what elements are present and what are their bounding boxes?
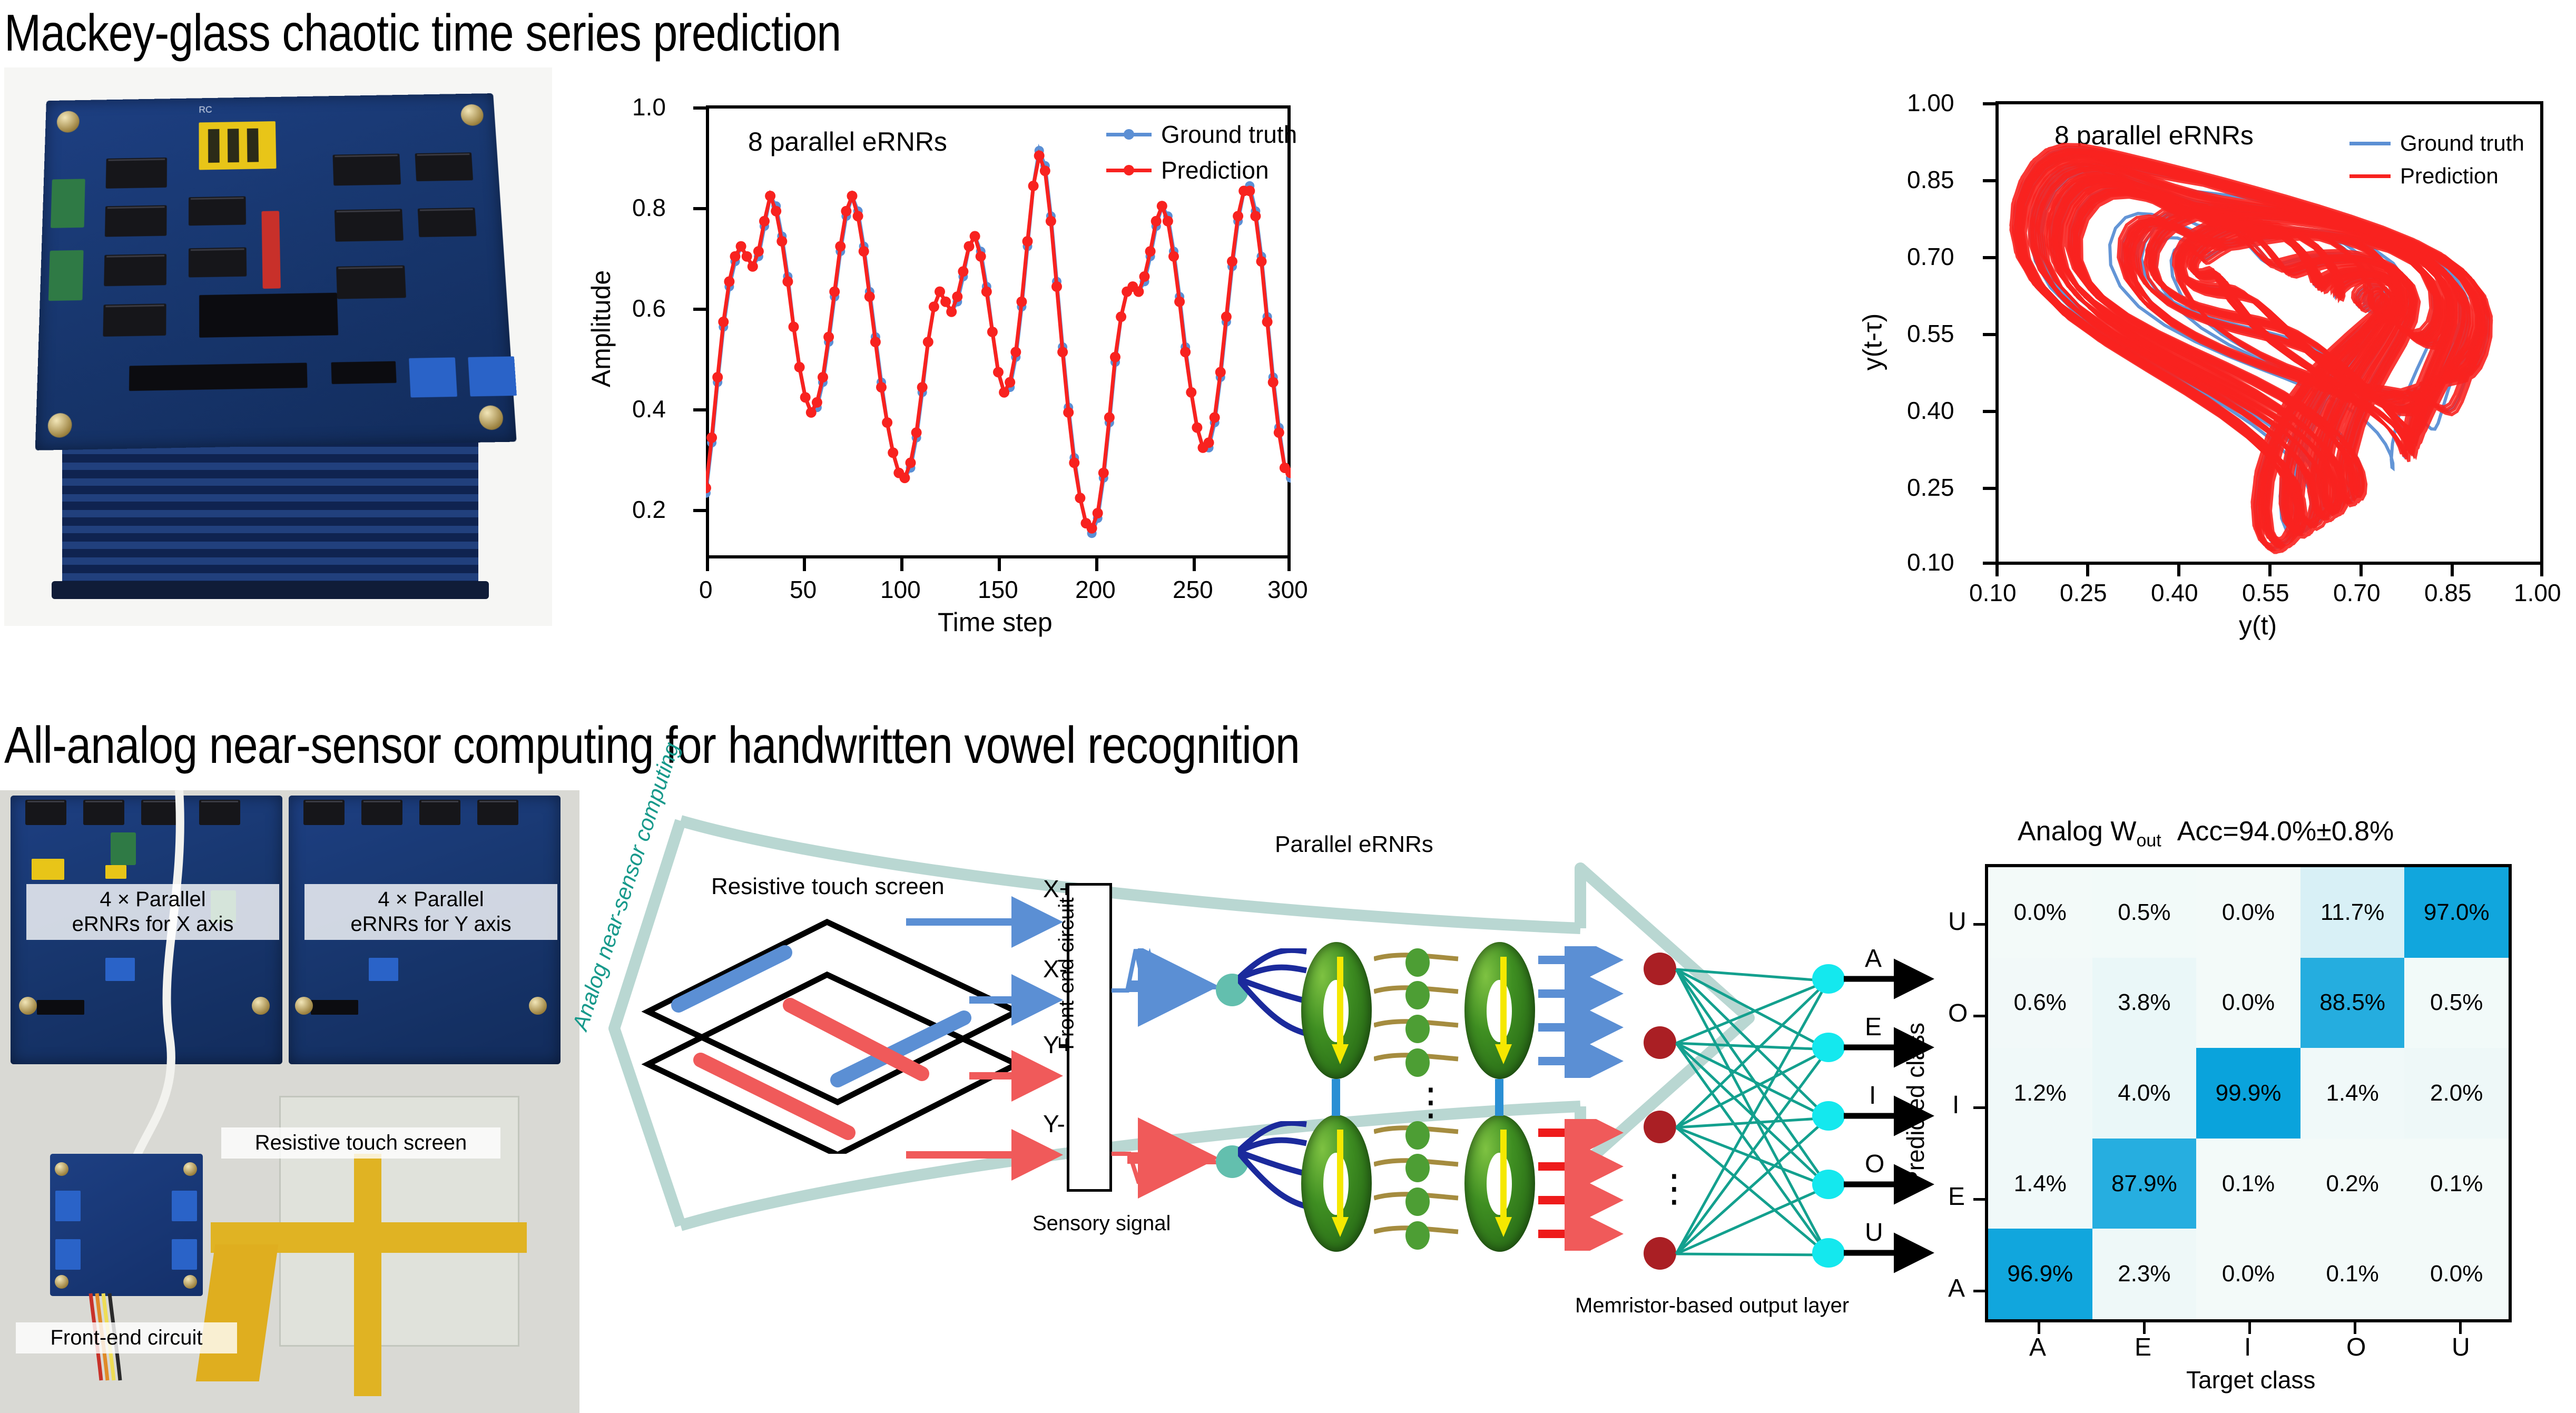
cm-cell: 0.5% (2404, 958, 2509, 1048)
cm-row-label-a: A (1948, 1274, 1965, 1303)
x-tick-label: 300 (1267, 575, 1308, 604)
y-tick (693, 207, 706, 210)
output-layer-label: Memristor-based output layer (1575, 1294, 1849, 1318)
ic-chip (418, 208, 477, 237)
ernr-ring-arrow (1330, 1130, 1351, 1240)
photo-label-touch-screen: Resistive touch screen (221, 1127, 500, 1159)
pin-header (199, 293, 338, 338)
cm-col-label-e: E (2135, 1333, 2151, 1362)
x-tick (706, 558, 709, 571)
sensory-signal-label: Sensory signal (1033, 1212, 1171, 1235)
y-tick-label: 1.00 (1907, 89, 1954, 117)
cm-cell: 0.0% (2196, 1229, 2300, 1319)
cm-cell: 0.0% (2404, 1229, 2509, 1319)
cm-cell: 0.5% (2092, 867, 2197, 958)
cm-col-tick (2248, 1322, 2251, 1334)
front-end-circuit-label: Front-end circuit (1055, 898, 1079, 1050)
cm-col-tick (2459, 1322, 2462, 1334)
cm-cell: 0.2% (2300, 1139, 2405, 1229)
reservoir-node (1405, 1188, 1430, 1216)
photo-stacked-ernr-boards: RC (4, 67, 552, 626)
cm-cell: 0.0% (1988, 867, 2092, 958)
cm-cell: 11.7% (2300, 867, 2405, 958)
ic-chip (415, 152, 474, 181)
cm-row-tick (1973, 1015, 1985, 1017)
cm-row-label-u: U (1948, 907, 1967, 936)
timeseries-series-svg (706, 105, 1291, 558)
output-label-i: I (1869, 1081, 1876, 1110)
output-node-e (1812, 1033, 1845, 1062)
title-accuracy: Acc=94.0%±0.8% (2177, 816, 2394, 847)
cm-row-label-i: I (1952, 1091, 1959, 1120)
cm-col-label-a: A (2029, 1333, 2046, 1362)
board-silkscreen-text: RC (199, 105, 212, 115)
output-node-i (1812, 1101, 1845, 1131)
x-tick-label: 0.25 (2060, 578, 2107, 607)
x-tick-label: 0.10 (1969, 578, 2017, 607)
x-tick-label: 0.70 (2333, 578, 2381, 607)
cm-cell: 88.5% (2300, 958, 2405, 1048)
y-tick (1983, 333, 1995, 336)
cm-cell: 1.2% (1988, 1048, 2092, 1139)
page-title-top: Mackey-glass chaotic time series predict… (4, 3, 841, 63)
ic-chip (106, 158, 167, 189)
y-tick (1983, 410, 1995, 413)
cm-row-label-o: O (1948, 999, 1968, 1028)
ernr-ring-arrow (1493, 1130, 1514, 1240)
output-label-e: E (1865, 1013, 1882, 1042)
x-tick (998, 558, 1001, 571)
y-axis-label: y(t-τ) (1857, 313, 1887, 371)
y-tick-label: 0.70 (1907, 242, 1954, 271)
cm-col-label-u: U (2452, 1333, 2470, 1362)
cm-cell: 0.1% (2404, 1139, 2509, 1229)
x-tick (803, 558, 806, 571)
x-tick (2086, 565, 2089, 576)
x-tick-label: 0 (699, 575, 713, 604)
ernr-output-arrows-bottom (1538, 1119, 1644, 1251)
ernr-ring-arrow (1330, 957, 1351, 1067)
y-tick (693, 106, 706, 110)
jumper-slot-2 (228, 129, 239, 162)
photo-label-y-axis: 4 × Parallel eRNRs for Y axis (304, 884, 557, 940)
cm-cell: 0.6% (1988, 958, 2092, 1048)
ring-stack-connector (1332, 1079, 1340, 1116)
confusion-matrix-title: Analog WoutAcc=94.0%±0.8% (2018, 816, 2394, 851)
cm-row-label-e: E (1948, 1182, 1965, 1211)
y-axis-label: Amplitude (586, 270, 616, 387)
cm-cell: 4.0% (2092, 1048, 2197, 1139)
y-tick-label: 0.25 (1907, 473, 1954, 502)
x-tick-label: 50 (790, 575, 817, 604)
reservoir-node (1405, 1121, 1430, 1150)
screw-top-right (460, 104, 484, 126)
cm-row-tick (1973, 1198, 1985, 1201)
ring-stack-connector (1495, 1079, 1503, 1116)
cm-col-label-i: I (2244, 1333, 2251, 1362)
confusion-matrix-chart: Analog WoutAcc=94.0%±0.8% 0.0%0.5%0.0%11… (1886, 790, 2571, 1413)
cm-cell: 1.4% (1988, 1139, 2092, 1229)
y-tick (1983, 562, 1995, 565)
cm-x-axis-label: Target class (2186, 1366, 2315, 1394)
dip-switch (261, 211, 280, 289)
cm-cell: 1.4% (2300, 1048, 2405, 1139)
tape-strip-vertical (354, 1154, 381, 1396)
near-sensor-computing-diagram: Analog near-sensor computing Resistive t… (590, 790, 1865, 1413)
blue-trimpot (468, 356, 517, 396)
x-tick (1193, 558, 1196, 571)
ernr-stack-ellipsis: ⋮ (1412, 1095, 1450, 1110)
y-tick-label: 0.85 (1907, 165, 1954, 194)
y-tick-label: 0.55 (1907, 319, 1954, 348)
cm-col-tick (2038, 1322, 2040, 1334)
pin-header (331, 361, 396, 385)
cm-col-tick (2354, 1322, 2356, 1334)
green-terminal (51, 179, 85, 228)
y-tick-label: 0.2 (632, 495, 666, 524)
confusion-matrix-grid: 0.0%0.5%0.0%11.7%97.0%0.6%3.8%0.0%88.5%0… (1985, 864, 2512, 1322)
cm-cell: 97.0% (2404, 867, 2509, 958)
x-tick-label: 0.55 (2242, 578, 2289, 607)
y-tick (1983, 256, 1995, 259)
x-tick-label: 1.00 (2514, 578, 2561, 607)
x-tick (1995, 565, 1999, 576)
y-tick (1983, 487, 1995, 490)
cm-row-tick (1973, 1290, 1985, 1292)
cm-col-label-o: O (2346, 1333, 2366, 1362)
reservoir-node (1405, 1015, 1430, 1043)
ic-chip (336, 266, 406, 299)
output-label-u: U (1865, 1218, 1883, 1247)
reservoir-node (1405, 1221, 1430, 1250)
y-tick-label: 0.4 (632, 395, 666, 423)
y-tick (1983, 179, 1995, 182)
x-axis-label: y(t) (2239, 610, 2277, 641)
cm-cell: 0.0% (2196, 867, 2300, 958)
x-tick-label: 0.85 (2424, 578, 2472, 607)
output-node-a (1812, 964, 1845, 994)
ic-chip (332, 154, 401, 186)
ic-chip (335, 209, 404, 241)
cm-row-tick (1973, 1106, 1985, 1109)
reservoir-node (1405, 981, 1430, 1009)
x-tick (2268, 565, 2272, 576)
board-stack-fins (62, 431, 478, 589)
reservoir-node (1405, 1154, 1430, 1182)
jumper-slot-1 (208, 129, 220, 163)
output-node-u (1812, 1238, 1845, 1268)
timeseries-chart: 1.0 0.8 0.6 0.4 0.2 0 50 100 150 200 250… (574, 74, 1322, 643)
ic-chip (103, 303, 166, 337)
photo-near-sensor-setup: 4 × Parallel eRNRs for X axis 4 × Parall… (0, 790, 579, 1413)
parallel-ernrs-label: Parallel eRNRs (1275, 831, 1433, 858)
reservoir-node (1405, 948, 1430, 977)
screw-top-left (56, 111, 80, 133)
y-tick-label: 0.8 (632, 193, 666, 222)
cm-cell: 2.3% (2092, 1229, 2197, 1319)
ic-chip (105, 205, 167, 237)
jumper-slot-3 (247, 129, 259, 162)
x-tick (1287, 558, 1291, 571)
cm-col-tick (2143, 1322, 2146, 1334)
cm-cell: 2.0% (2404, 1048, 2509, 1139)
title-subscript-out: out (2136, 830, 2161, 850)
ernr-output-arrows-top (1538, 946, 1644, 1078)
cm-y-axis-label: Predicted class (1901, 1023, 1930, 1187)
x-tick (900, 558, 903, 571)
y-tick-label: 0.40 (1907, 396, 1954, 425)
output-label-o: O (1865, 1150, 1884, 1179)
y-tick (693, 308, 706, 311)
screw-bottom-right (478, 405, 504, 430)
ic-chip (189, 247, 247, 277)
y-tick-label: 0.10 (1907, 548, 1954, 576)
y-tick (693, 509, 706, 512)
x-axis-label: Time step (938, 607, 1053, 637)
x-tick-label: 0.40 (2151, 578, 2198, 607)
cm-row-tick (1973, 923, 1985, 926)
cm-cell: 0.1% (2196, 1139, 2300, 1229)
reservoir-node (1405, 1048, 1430, 1077)
pin-header (129, 362, 308, 391)
attractor-chart: 1.00 0.85 0.70 0.55 0.40 0.25 0.10 0.10 … (1881, 74, 2571, 648)
cm-cell: 3.8% (2092, 958, 2197, 1048)
cm-cell: 99.9% (2196, 1048, 2300, 1139)
output-node-o (1812, 1170, 1845, 1199)
x-tick (2359, 565, 2363, 576)
signal-label-y-minus: Y- (1043, 1110, 1065, 1138)
x-tick (1095, 558, 1098, 571)
photo-label-x-axis: 4 × Parallel eRNRs for X axis (26, 884, 279, 940)
blue-trimpot (409, 357, 457, 397)
y-tick (693, 408, 706, 411)
x-tick-label: 250 (1173, 575, 1213, 604)
stack-shadow (52, 581, 489, 599)
x-tick (2451, 565, 2454, 576)
x-tick-label: 100 (880, 575, 921, 604)
attractor-series-svg (1995, 101, 2543, 565)
cm-cell: 0.1% (2300, 1229, 2405, 1319)
x-tick-label: 200 (1075, 575, 1116, 604)
ernr-ring-arrow (1493, 957, 1514, 1067)
ic-chip (189, 196, 246, 225)
x-tick-label: 150 (978, 575, 1018, 604)
cm-cell: 96.9% (1988, 1229, 2092, 1319)
green-terminal (48, 250, 84, 301)
photo-label-front-end: Front-end circuit (16, 1322, 237, 1353)
cm-cell: 0.0% (2196, 958, 2300, 1048)
screw-bottom-left (47, 413, 72, 438)
output-label-a: A (1865, 944, 1882, 973)
ic-chip (104, 254, 166, 286)
x-tick (2540, 565, 2543, 576)
title-analog-wout: Analog W (2018, 816, 2136, 847)
top-pcb-board: RC (35, 93, 517, 450)
cm-cell: 87.9% (2092, 1139, 2197, 1229)
y-tick (1983, 102, 1995, 105)
y-tick-label: 1.0 (632, 93, 666, 121)
x-tick (2177, 565, 2180, 576)
y-tick-label: 0.6 (632, 294, 666, 322)
